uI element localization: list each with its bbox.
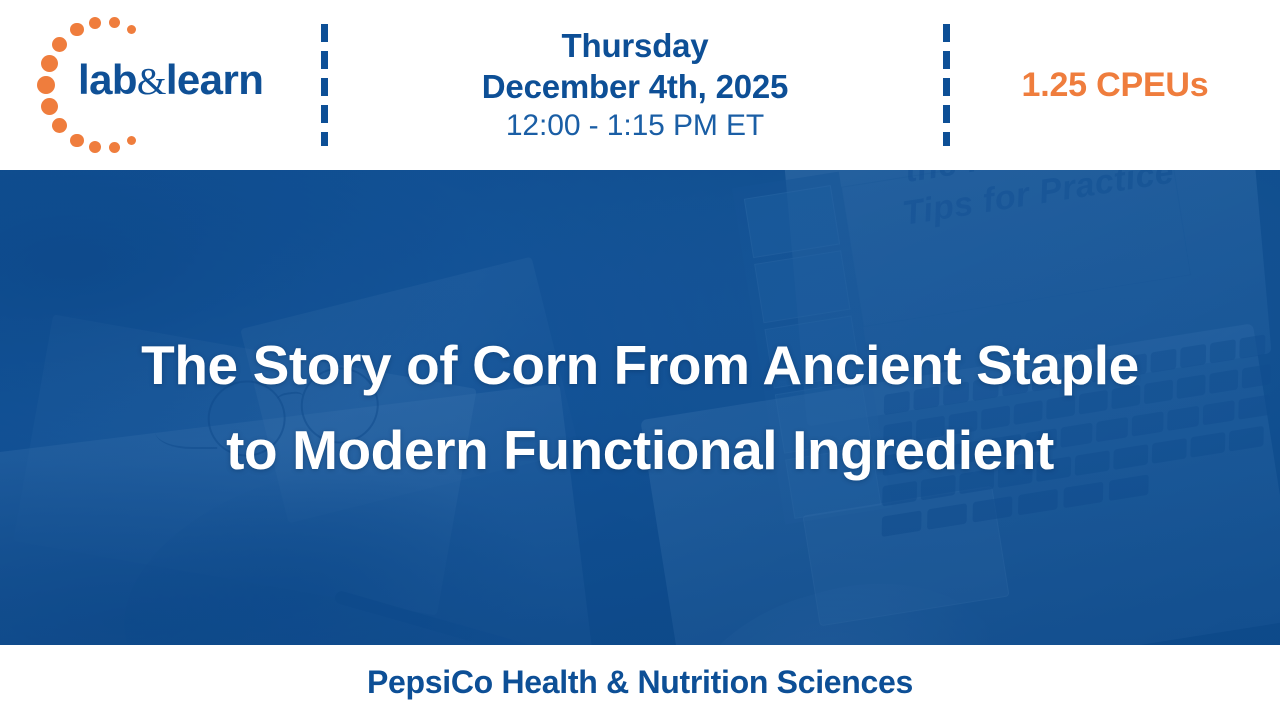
cpeu-credits-block: 1.25 CPEUs	[950, 0, 1280, 170]
logo-dot	[52, 37, 67, 52]
cpeu-credits-value: 1.25 CPEUs	[1022, 66, 1209, 105]
logo-dot	[41, 98, 58, 115]
logo-dot	[41, 55, 58, 72]
event-time: 12:00 - 1:15 PM ET	[506, 107, 764, 145]
header-bar: lab&learn Thursday December 4th, 2025 12…	[0, 0, 1280, 170]
logo-dot	[89, 141, 101, 153]
logo-wordmark: lab&learn	[78, 56, 263, 106]
event-date: December 4th, 2025	[482, 66, 788, 107]
lab-and-learn-logo[interactable]: lab&learn	[0, 0, 320, 170]
logo-wordmark-lead: lab	[78, 56, 137, 103]
logo-dot	[89, 17, 101, 29]
hero-title-line-1: The Story of Corn From Ancient Staple	[141, 323, 1139, 408]
dashed-divider-right	[943, 24, 950, 146]
hero-banner: the Real World: Tips for Practice The St…	[0, 170, 1280, 645]
footer-bar: PepsiCo Health & Nutrition Sciences	[0, 645, 1280, 720]
event-weekday: Thursday	[562, 26, 709, 66]
logo-dot	[109, 17, 120, 28]
logo-dot	[109, 142, 120, 153]
logo-dot	[127, 136, 136, 145]
logo-dot	[37, 76, 56, 95]
organization-name: PepsiCo Health & Nutrition Sciences	[367, 664, 913, 701]
hero-title-line-2: to Modern Functional Ingredient	[226, 408, 1054, 493]
logo-dot	[127, 25, 136, 34]
webinar-promo-card: lab&learn Thursday December 4th, 2025 12…	[0, 0, 1280, 720]
dashed-divider-left	[321, 24, 328, 146]
event-date-block: Thursday December 4th, 2025 12:00 - 1:15…	[330, 0, 940, 170]
logo-dot	[70, 134, 84, 148]
logo-dot	[52, 118, 67, 133]
logo-dot	[70, 23, 84, 37]
logo-wordmark-tail: learn	[166, 56, 263, 103]
hero-title: The Story of Corn From Ancient Staple to…	[50, 170, 1230, 645]
logo-wordmark-ampersand: &	[137, 61, 166, 103]
